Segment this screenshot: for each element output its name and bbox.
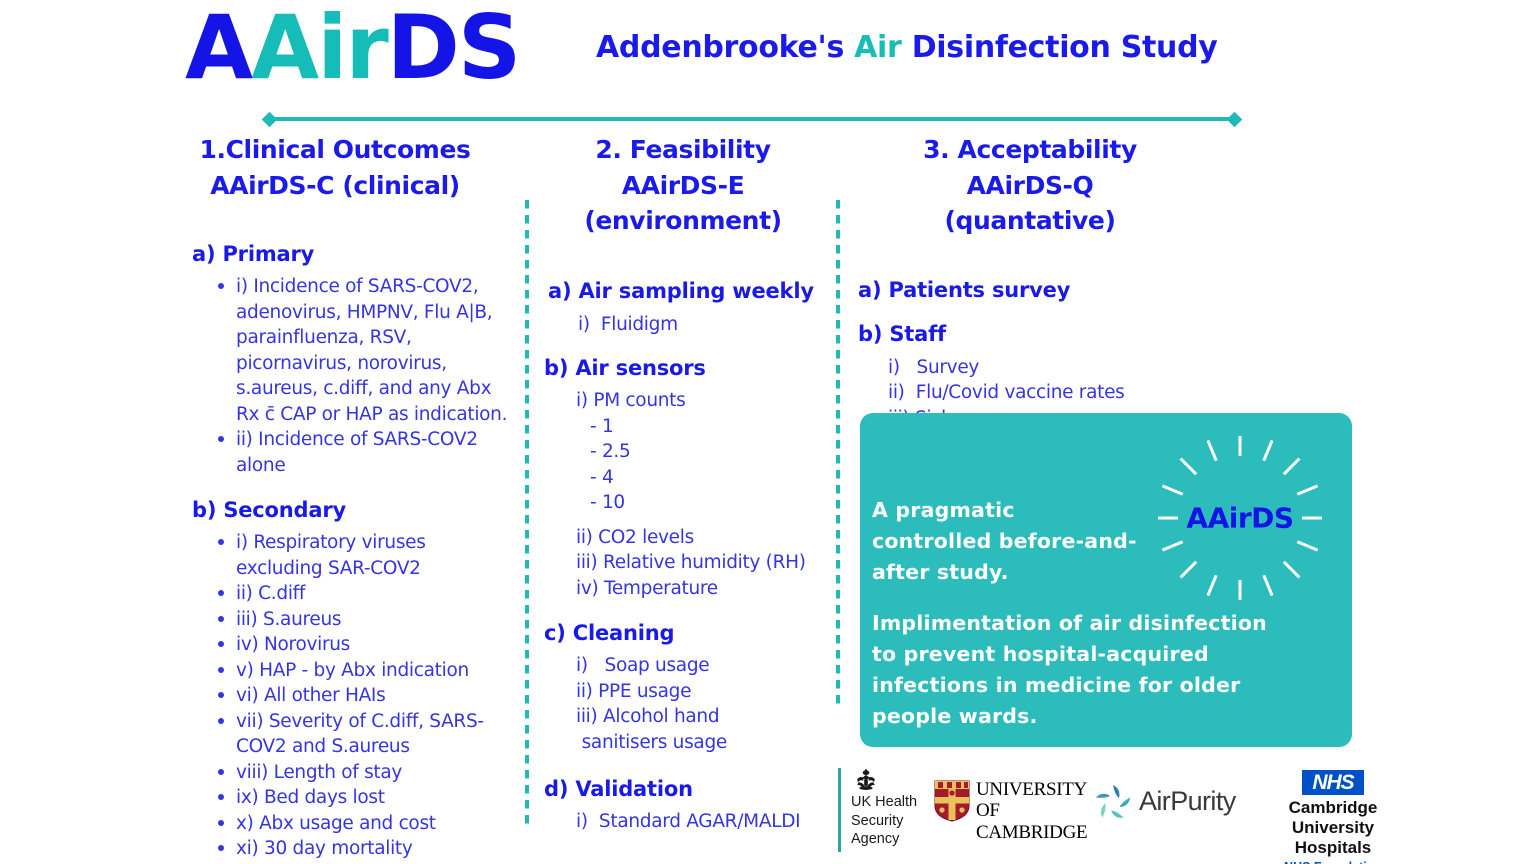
ukhsa-accent-bar [838,768,841,852]
column-3-heading-line2: AAirDS-Q (quantative) [880,168,1180,239]
column-3-heading-line1: 3. Acceptability [880,132,1180,168]
list-item: ii) Incidence of SARS-COV2 alone [210,427,516,478]
nhs-trust-line3: NHS Foundation Trust [1268,860,1398,864]
divider-line [270,117,1234,121]
sunburst-ray [1262,439,1273,460]
subtitle-part-disinfection-study: Disinfection Study [902,30,1218,65]
sunburst-ray [1302,516,1322,519]
list-item: vi) All other HAIs [210,683,516,709]
list-item: i) PM counts [576,388,832,414]
logo-part-a: A [185,0,251,99]
section-air-sensors-list-2: ii) CO2 levels iii) Relative humidity (R… [576,525,832,602]
sunburst-ray [1158,516,1178,519]
section-secondary-heading: b) Secondary [192,498,516,522]
section-air-sampling-heading: a) Air sampling weekly [548,279,832,303]
nhs-badge: NHS [1302,770,1364,795]
study-summary-card: A pragmatic controlled before-and-after … [860,413,1352,747]
section-cleaning-list: i) Soap usage ii) PPE usage iii) Alcohol… [576,653,832,755]
logo-airpurity: AirPurity [1091,782,1271,826]
airpurity-label: AirPurity [1139,786,1236,817]
list-item: - 2.5 [590,439,832,465]
header-divider [262,111,1242,127]
sunburst-ray [1180,560,1198,578]
column-3-heading: 3. Acceptability AAirDS-Q (quantative) [880,132,1180,239]
list-item: ii) CO2 levels [576,525,832,551]
section-air-sensors-heading: b) Air sensors [544,356,832,380]
list-item: i) Fluidigm [578,312,832,338]
list-item: ii) Flu/Covid vaccine rates [888,380,1352,406]
nhs-trust-line2: University Hospitals [1268,818,1398,858]
list-item: ii) PPE usage [576,679,832,705]
list-item: i) Respiratory viruses excluding SAR-COV… [210,530,516,581]
section-secondary-list: i) Respiratory viruses excluding SAR-COV… [210,530,516,862]
section-primary-heading: a) Primary [192,242,516,266]
sunburst-ray [1283,457,1301,475]
ukhsa-label: UK Health Security Agency [851,793,917,849]
list-item: - 1 [590,414,832,440]
list-item: x) Abx usage and cost [210,811,516,837]
sunburst-ray [1180,457,1198,475]
royal-crest-icon [851,769,881,791]
partner-logos: UK Health Security Agency UNIVERSITY OF … [836,762,1396,858]
column-clinical-outcomes: 1.Clinical Outcomes AAirDS-C (clinical) … [176,132,516,862]
diamond-right-icon [1227,112,1243,128]
sunburst-badge-label: AAirDS [1186,501,1293,534]
section-primary-list: i) Incidence of SARS-COV2, adenovirus, H… [210,274,516,478]
list-item: i) Survey [888,355,1352,381]
sunburst-ray [1239,580,1242,600]
list-item: iii) Alcohol hand [576,704,832,730]
section-staff-heading: b) Staff [858,322,1352,346]
sunburst-ray [1239,436,1242,456]
column-2-heading: 2. Feasibility AAirDS-E (environment) [532,132,834,239]
column-feasibility: 2. Feasibility AAirDS-E (environment) a)… [532,132,832,835]
list-item: - 4 [590,465,832,491]
sunburst-ray [1162,484,1183,495]
list-item: i) Standard AGAR/MALDI [576,809,832,835]
logo-uk-health-security-agency: UK Health Security Agency [838,768,934,852]
section-validation-heading: d) Validation [544,777,832,801]
nhs-trust-line1: Cambridge [1268,798,1398,818]
cambridge-shield-icon [934,780,970,822]
card-text-pragmatic: A pragmatic controlled before-and-after … [872,495,1137,588]
list-item: iii) Relative humidity (RH) [576,550,832,576]
list-item: i) Incidence of SARS-COV2, adenovirus, H… [210,274,516,427]
list-item: iv) Temperature [576,576,832,602]
card-text-implementation: Implimentation of air disinfection to pr… [872,608,1292,733]
aairds-logo: AAirDS [185,4,519,92]
section-air-sampling-list: i) Fluidigm [578,312,832,338]
section-cleaning-heading: c) Cleaning [544,621,832,645]
column-1-heading-line1: 1.Clinical Outcomes [176,132,494,168]
sunburst-ray [1262,574,1273,595]
column-1-heading-line2: AAirDS-C (clinical) [176,168,494,204]
list-item: iii) S.aureus [210,607,516,633]
sunburst-badge: AAirDS [1145,425,1335,610]
column-acceptability: 3. Acceptability AAirDS-Q (quantative) a… [852,132,1352,431]
logo-part-ds: DS [387,0,519,99]
list-item: ix) Bed days lost [210,785,516,811]
list-item: v) HAP - by Abx indication [210,658,516,684]
section-patients-survey-heading: a) Patients survey [858,278,1352,302]
column-2-heading-line2: AAirDS-E (environment) [532,168,834,239]
sunburst-ray [1206,439,1217,460]
poster-header: AAirDS Addenbrooke's Air Disinfection St… [0,0,1536,105]
poster-root: AAirDS Addenbrooke's Air Disinfection St… [0,0,1536,864]
list-item: xi) 30 day mortality [210,836,516,862]
sunburst-ray [1283,560,1301,578]
section-validation-list: i) Standard AGAR/MALDI [576,809,832,835]
list-item: - 10 [590,490,832,516]
column-1-heading: 1.Clinical Outcomes AAirDS-C (clinical) [176,132,494,203]
list-item: iv) Norovirus [210,632,516,658]
logo-part-air: Air [251,0,387,99]
sunburst-ray [1297,484,1318,495]
subtitle-part-addenbrookes: Addenbrooke's [596,30,854,65]
list-item: viii) Length of stay [210,760,516,786]
airpurity-swirl-icon [1091,782,1135,824]
logo-nhs-cambridge-university-hospitals: NHS Cambridge University Hospitals NHS F… [1268,770,1398,852]
subtitle-part-air: Air [854,30,901,65]
list-item: ii) C.diff [210,581,516,607]
logo-university-of-cambridge: UNIVERSITY OF CAMBRIDGE [934,778,1094,824]
sunburst-ray [1206,574,1217,595]
section-air-sensors-list: i) PM counts [576,388,832,414]
sunburst-ray [1297,540,1318,551]
cambridge-label: UNIVERSITY OF CAMBRIDGE [976,779,1094,843]
list-item: vii) Severity of C.diff, SARS-COV2 and S… [210,709,516,760]
list-item: sanitisers usage [576,730,832,756]
poster-subtitle: Addenbrooke's Air Disinfection Study [596,30,1218,65]
column-2-heading-line1: 2. Feasibility [532,132,834,168]
sunburst-ray [1162,540,1183,551]
list-item: i) Soap usage [576,653,832,679]
pm-counts-sublist: - 1 - 2.5 - 4 - 10 [590,414,832,516]
